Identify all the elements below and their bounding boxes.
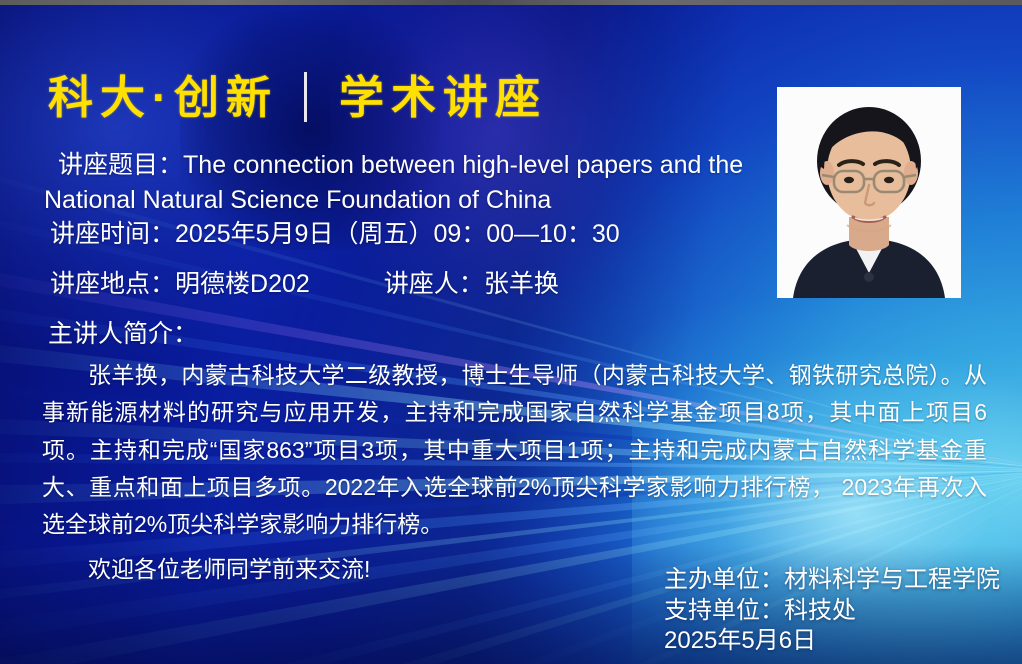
lecture-place-line: 讲座地点：明德楼D202讲座人：张羊换 [50, 272, 559, 297]
footer-organizer: 主办单位：材料科学与工程学院 [664, 565, 1000, 596]
footer-date: 2025年5月6日 [664, 626, 1000, 657]
brand-subtitle: 学术讲座 [339, 75, 547, 120]
lecture-time-line: 讲座时间：2025年5月9日（周五）09：00—10：30 [50, 222, 620, 247]
lecture-speaker-label: 讲座人： [384, 270, 484, 298]
lecture-speaker-value: 张羊换 [484, 270, 559, 298]
top-strip [0, 0, 1022, 5]
brand-title: 科大·创新 [48, 75, 278, 120]
lecture-time-value: 2025年5月9日（周五）09：00—10：30 [175, 220, 620, 248]
bio-paragraph: 张羊换，内蒙古科技大学二级教授，博士生导师（内蒙古科技大学、钢铁研究总院）。从事… [42, 357, 987, 543]
lecture-place-label: 讲座地点： [50, 270, 175, 298]
welcome-line: 欢迎各位老师同学前来交流! [42, 558, 370, 581]
footer-supporter: 支持单位：科技处 [664, 596, 1000, 627]
seminar-poster: 科大·创新 学术讲座 讲座题目：The connection between h… [0, 0, 1022, 664]
lecture-title-label: 讲座题目： [58, 151, 183, 179]
lecture-title-block: 讲座题目：The connection between high-level p… [44, 148, 764, 217]
lecture-time-label: 讲座时间： [50, 220, 175, 248]
poster-title: 科大·创新 学术讲座 [48, 72, 547, 122]
bio-heading: 主讲人简介： [48, 322, 198, 347]
bio-block: 张羊换，内蒙古科技大学二级教授，博士生导师（内蒙古科技大学、钢铁研究总院）。从事… [42, 357, 987, 543]
footer-block: 主办单位：材料科学与工程学院 支持单位：科技处 2025年5月6日 [664, 565, 1000, 657]
title-separator [304, 72, 307, 122]
lecture-place-value: 明德楼D202 [175, 270, 310, 298]
